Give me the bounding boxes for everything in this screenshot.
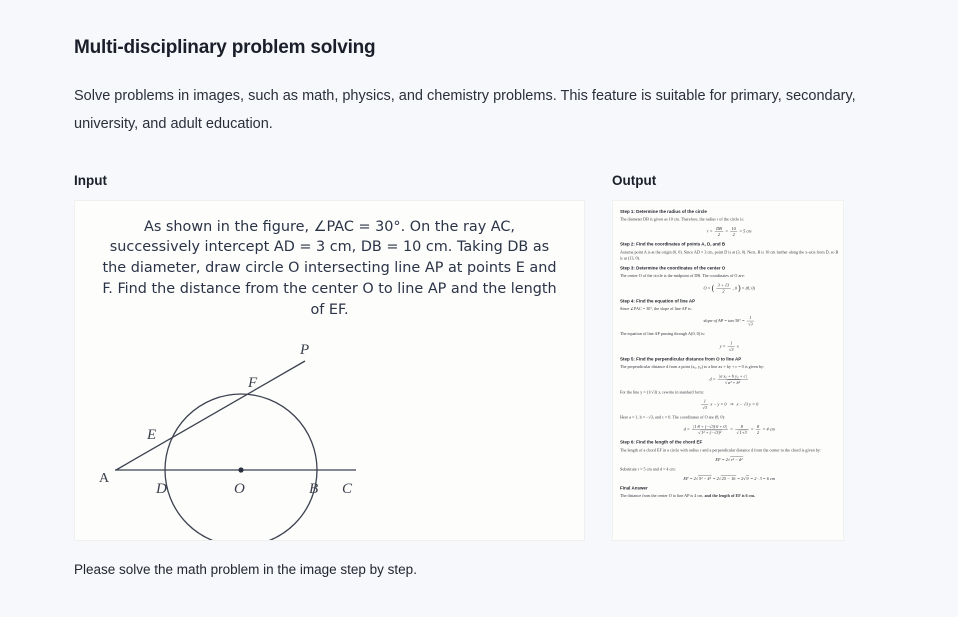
input-label: Input	[74, 173, 585, 189]
step-3-body: The center O of the circle is the midpoi…	[620, 272, 838, 278]
step-4-heading: Step 4: Find the equation of line AP	[620, 298, 838, 303]
step-6-equation2: EF = 2√5² − 4² = 2√25 − 16 = 2√9 = 2 · 3…	[620, 475, 838, 480]
page-title: Multi-disciplinary problem solving	[74, 36, 884, 61]
output-card: Step 1: Determine the radius of the circ…	[612, 200, 844, 541]
step-3-heading: Step 3: Determine the coordinates of the…	[620, 265, 838, 270]
step-6-body2: Substitute r = 5 cm and d = 4 cm:	[620, 466, 838, 472]
step-5-equation: d = |a x₀ + b y₀ + c|√a² + b²	[620, 373, 838, 385]
step-4-body2: The equation of line AP passing through …	[620, 330, 838, 336]
step-5-body2: For the line y = (1/√3) x, rewrite in st…	[620, 389, 838, 395]
label-f: F	[247, 375, 258, 391]
page-root: Multi-disciplinary problem solving Solve…	[0, 0, 958, 617]
step-6-body: The length of a chord EF in a circle wit…	[620, 447, 838, 453]
step-5-equation3: d = |1·8 + (−√3)·0 + 0|√1² + (−√3)² = 8√…	[620, 423, 838, 435]
center-point-dot	[238, 467, 243, 472]
step-4-equation: slope of AP = tan 30° = 1√3	[620, 315, 838, 327]
input-card: As shown in the figure, ∠PAC = 30°. On t…	[74, 200, 585, 541]
step-1-heading: Step 1: Determine the radius of the circ…	[620, 209, 838, 214]
label-a: A	[99, 471, 110, 486]
label-b: B	[309, 481, 318, 497]
step-4-equation2: y = 1√3 x	[620, 340, 838, 352]
step-6-equation: EF = 2√r² − d²	[620, 456, 838, 461]
solution-document: Step 1: Determine the radius of the circ…	[620, 209, 838, 499]
label-o: O	[234, 481, 245, 497]
label-p: P	[299, 342, 309, 358]
step-4-body: Since ∠PAC = 30°, the slope of line AP i…	[620, 305, 838, 311]
final-answer-prefix: The distance from the center O to line A…	[620, 493, 704, 498]
ray-ap	[116, 361, 305, 470]
final-answer-text: The distance from the center O to line A…	[620, 492, 838, 498]
output-column: Output Step 1: Determine the radius of t…	[612, 173, 844, 540]
output-label: Output	[612, 173, 844, 189]
io-columns: Input As shown in the figure, ∠PAC = 30°…	[74, 173, 884, 579]
input-caption: Please solve the math problem in the ima…	[74, 561, 585, 580]
step-5-body3: Here a = 1, b = −√3, and c = 0. The coor…	[620, 414, 838, 420]
step-1-body: The diameter DB is given as 10 cm. There…	[620, 216, 838, 222]
step-3-equation: O = ( 3 + 132 , 0 ) = (8, 0)	[620, 282, 838, 294]
step-2-heading: Step 2: Find the coordinates of points A…	[620, 241, 838, 246]
step-5-body: The perpendicular distance d from a poin…	[620, 363, 838, 369]
step-1-equation: r = DB2 = 102 = 5 cm	[620, 225, 838, 237]
step-6-heading: Step 6: Find the length of the chord EF	[620, 439, 838, 444]
final-answer-bold: and the length of EF is 6 cm.	[704, 493, 755, 498]
input-column: Input As shown in the figure, ∠PAC = 30°…	[74, 173, 585, 579]
problem-statement: As shown in the figure, ∠PAC = 30°. On t…	[93, 215, 566, 321]
label-e: E	[146, 427, 156, 443]
label-d: D	[155, 481, 167, 497]
circle-o	[165, 394, 317, 541]
label-c: C	[342, 481, 353, 497]
step-5-equation2: 1√3 x − y = 0 ⇒ x − √3 y = 0	[620, 398, 838, 410]
page-description: Solve problems in images, such as math, …	[74, 83, 864, 139]
step-5-heading: Step 5: Find the perpendicular distance …	[620, 356, 838, 361]
step-2-body: Assume point A is at the origin (0, 0). …	[620, 249, 838, 261]
final-answer-heading: Final Answer	[620, 485, 838, 490]
circle-secant-diagram: P F E A D O B C	[93, 327, 568, 541]
geometry-figure: P F E A D O B C	[93, 327, 566, 541]
